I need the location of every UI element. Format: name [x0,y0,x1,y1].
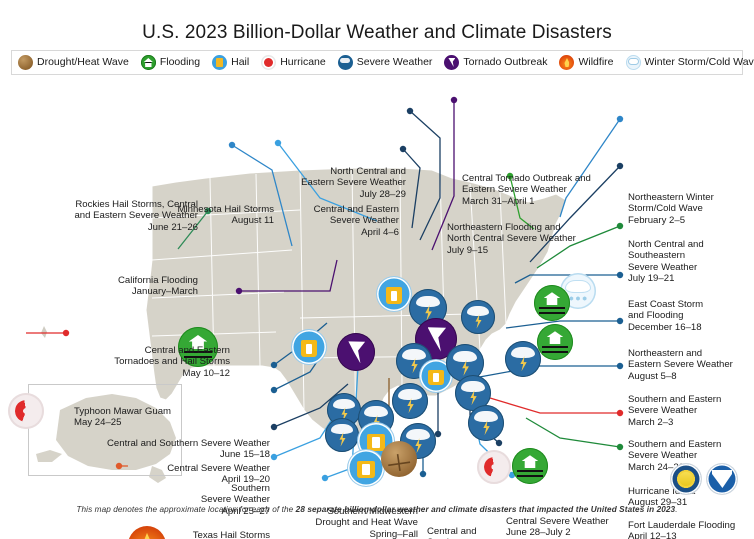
marker-fort-lauderdale-flooding[interactable] [512,448,548,484]
callout-central-eastern-severe-weather-april: Central and Eastern Severe Weather April… [295,204,399,238]
callout-northeastern-winter-storm: Northeastern Winter Storm/Cold Wave Febr… [628,192,752,226]
winter-storm-cold-wave-icon [626,55,641,70]
connector-dot-rockies-hail-storms [229,142,235,148]
connector-dot-southern-eastern-severe-weather-march24 [617,363,623,369]
marker-texas-hail[interactable] [348,450,384,486]
connector-dot-southern-severe-weather-april [271,424,277,430]
marker-east-coast-flooding[interactable] [537,324,573,360]
callout-minnesota-hail-storms: Minnesota Hail Storms August 11 [168,204,274,227]
legend-item-label: Severe Weather [357,56,433,69]
legend-item-label: Drought/Heat Wave [37,56,129,69]
connector-dot-texas-hail-storms [271,454,277,460]
callout-california-flooding: California Flooding January–March [12,275,198,298]
guam-shape [41,326,47,338]
callout-north-central-southeastern-severe-weather: North Central and Southeastern Severe We… [628,239,752,285]
connector-dot-north-central-southeastern-severe-weather [617,163,623,169]
connector-dot-northeastern-winter-storm [617,116,623,122]
connector-dot-northeastern-eastern-severe-weather [617,272,623,278]
callout-central-eastern-tornadoes-hail: Central and Eastern Tornadoes and Hail S… [30,345,230,379]
legend-item-hurricane[interactable]: Hurricane [255,55,332,70]
callout-east-coast-storm-flooding: East Coast Storm and Flooding December 1… [628,299,752,333]
marker-minnesota-hail[interactable] [377,277,411,311]
marker-drought-heat-wave[interactable] [381,441,417,477]
infographic-root: U.S. 2023 Billion-Dollar Weather and Cli… [0,0,754,539]
marker-eastern-severe-1[interactable] [461,300,495,334]
legend-item-flooding[interactable]: Flooding [135,55,206,70]
connector-dot-typhoon-mawar-guam [63,330,69,336]
marker-northeastern-flooding[interactable] [534,285,570,321]
tornado-outbreak-icon [444,55,459,70]
ncei-logo [671,464,701,494]
callout-central-southern-severe-weather-june: Central and Southern Severe Weather June… [98,438,270,461]
connector-dot-central-tornado-outbreak [451,97,457,103]
connector-dot-central-southern-severe-weather-april15 [435,431,441,437]
callout-central-southern-severe-weather-april15: Central and Southern Severe Weather Apri… [427,526,513,539]
legend-item-winter-storm-cold-wave[interactable]: Winter Storm/Cold Wave [620,55,754,70]
callout-north-central-eastern-severe-weather-july: North Central and Eastern Severe Weather… [286,166,406,200]
connector-dot-southern-hail-storms [322,475,328,481]
legend-item-drought-heat-wave[interactable]: Drought/Heat Wave [12,55,135,70]
legend-item-hail[interactable]: Hail [206,55,255,70]
connector-dot-central-severe-weather-june28 [496,440,502,446]
marker-eastern-severe-2[interactable] [505,341,541,377]
connector-dot-southern-eastern-severe-weather-march2 [617,318,623,324]
legend-item-tornado-outbreak[interactable]: Tornado Outbreak [438,55,553,70]
legend-item-wildfire[interactable]: Wildfire [553,55,619,70]
connector-dot-central-eastern-severe-weather-april [400,146,406,152]
connector-dot-fort-lauderdale-flooding [617,444,623,450]
legend-item-severe-weather[interactable]: Severe Weather [332,55,439,70]
connector-dot-hurricane-idalia [617,410,623,416]
wildfire-icon [559,55,574,70]
callout-northeastern-flooding-north-central: Northeastern Flooding and North Central … [447,222,607,256]
connector-dot-minnesota-hail-storms [275,140,281,146]
marker-hurricane-idalia[interactable] [477,450,511,484]
marker-central-severe-6[interactable] [392,383,428,419]
footnote-bold: 28 separate billion-dollar weather and c… [296,505,676,514]
connector-dot-north-central-eastern-severe-weather-july [407,108,413,114]
marker-typhoon-mawar-guam[interactable] [8,393,44,429]
marker-hawaii-firestorm[interactable] [128,526,166,539]
marker-central-eastern-tornado[interactable] [337,333,375,371]
callout-central-severe-weather-june28: Central Severe Weather June 28–July 2 [506,516,626,539]
callout-fort-lauderdale-flooding: Fort Lauderdale Flooding April 12–13 [628,520,752,539]
connector-dot-central-severe-weather-april [271,387,277,393]
flooding-icon [141,55,156,70]
legend-item-label: Hurricane [280,56,326,69]
legend-item-label: Tornado Outbreak [463,56,547,69]
severe-weather-icon [338,55,353,70]
marker-rockies-hail[interactable] [292,330,326,364]
connector-dot-central-southern-severe-weather-june [271,362,277,368]
callout-central-tornado-outbreak: Central Tornado Outbreak and Eastern Sev… [462,173,622,207]
callout-northeastern-eastern-severe-weather: Northeastern and Eastern Severe Weather … [628,348,752,382]
footnote: This map denotes the approximate locatio… [0,505,754,514]
legend-item-label: Flooding [160,56,200,69]
map-area: Rockies Hail Storms, Central and Eastern… [0,78,754,503]
connector-dot-central-eastern-tornadoes-hail [236,288,242,294]
footnote-pre: This map denotes the approximate locatio… [76,505,295,514]
legend-item-label: Wildfire [578,56,613,69]
callout-typhoon-mawar-guam: Typhoon Mawar Guam May 24–25 [74,406,204,429]
connector-dot-southern-severe-weather-june [420,471,426,477]
connector-dot-east-coast-storm-flooding [617,223,623,229]
drought-heat-wave-icon [18,55,33,70]
callout-southern-eastern-severe-weather-march2: Southern and Eastern Severe Weather Marc… [628,394,752,428]
legend: Drought/Heat WaveFloodingHailHurricaneSe… [11,50,743,75]
callout-texas-hail-storms: Texas Hail Storms May 18–19 [170,530,270,539]
legend-item-label: Winter Storm/Cold Wave [645,56,754,69]
hail-icon [212,55,227,70]
page-title: U.S. 2023 Billion-Dollar Weather and Cli… [0,22,754,44]
hurricane-icon [261,55,276,70]
marker-southeast-severe-2[interactable] [468,405,504,441]
noaa-logo [707,464,737,494]
footnote-post: . [675,505,677,514]
legend-item-label: Hail [231,56,249,69]
marker-southern-severe-1[interactable] [325,418,359,452]
